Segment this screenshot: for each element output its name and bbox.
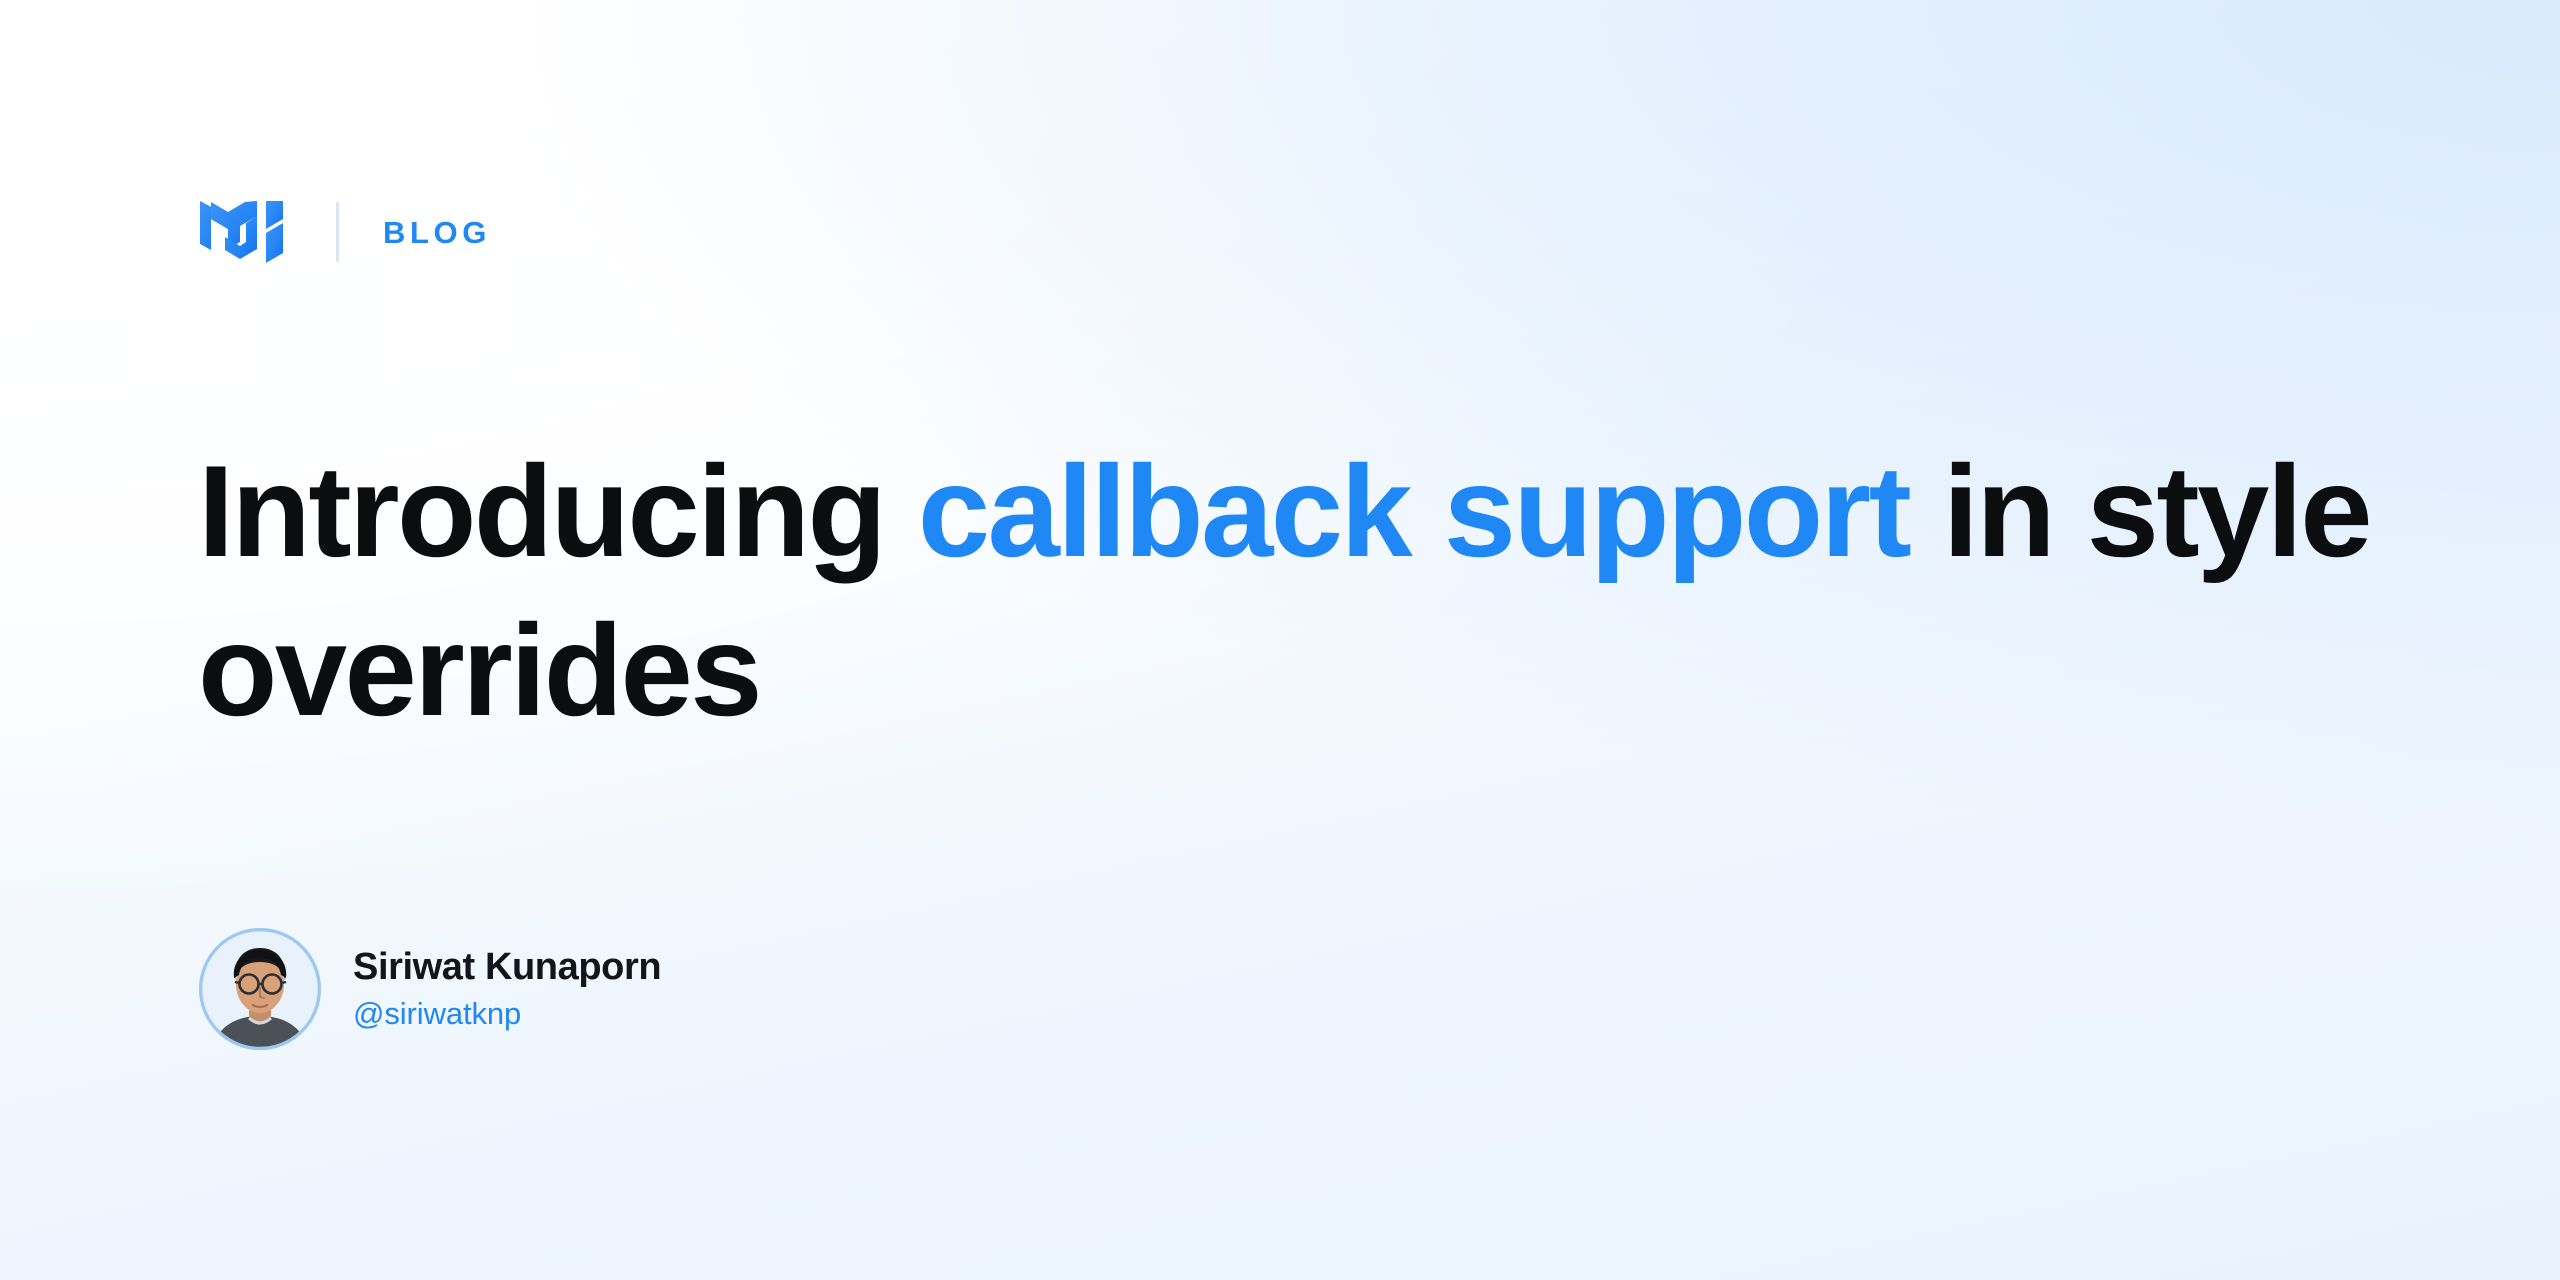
brand-header: BLOG	[200, 196, 491, 268]
author-info: Siriwat Kunaporn @siriwatknp	[353, 946, 661, 1032]
social-share-card: BLOG Introducing callback support in sty…	[0, 0, 2560, 1280]
brand-divider	[336, 202, 339, 262]
blog-section-label[interactable]: BLOG	[383, 217, 491, 248]
headline-accent: callback support	[918, 438, 1909, 584]
author-name: Siriwat Kunaporn	[353, 946, 661, 989]
headline-part-1: Introducing	[198, 438, 918, 584]
author-handle[interactable]: @siriwatknp	[353, 997, 661, 1032]
avatar	[199, 928, 321, 1050]
author-byline[interactable]: Siriwat Kunaporn @siriwatknp	[199, 928, 661, 1050]
page-title: Introducing callback support in style ov…	[198, 432, 2378, 749]
mui-logo-icon[interactable]	[200, 197, 295, 267]
